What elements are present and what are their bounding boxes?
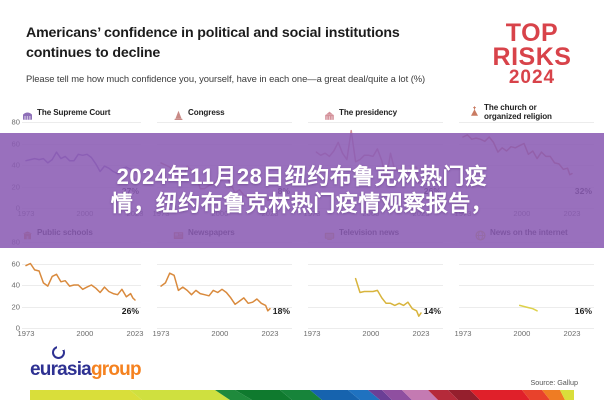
panel-plot: 14%197320002023	[308, 242, 443, 328]
church-icon	[469, 104, 480, 115]
x-tick-label: 2023	[413, 329, 430, 338]
panel-legend-label: Congress	[188, 109, 225, 118]
y-tick-label: 60	[12, 259, 20, 268]
color-stripe-svg	[30, 390, 574, 400]
x-tick-label: 2000	[513, 329, 530, 338]
eurasia-group-logo: eurasiagroup	[30, 346, 141, 379]
x-axis-ticks: 197320002023	[308, 329, 443, 340]
color-stripe	[30, 390, 574, 400]
whitehouse-icon	[324, 108, 335, 119]
x-tick-label: 1973	[455, 329, 472, 338]
series-line	[459, 242, 594, 328]
panel-legend-label: The church or organized religion	[484, 104, 552, 121]
x-tick-label: 1973	[153, 329, 170, 338]
x-axis-ticks: 197320002023	[22, 329, 141, 340]
x-axis-ticks: 197320002023	[459, 329, 594, 340]
eurasia-mark-icon	[52, 346, 65, 359]
x-tick-label: 2000	[362, 329, 379, 338]
panel-plot: 02040608026%197320002023	[22, 242, 141, 328]
logo-line-risks: RISKS	[486, 46, 578, 70]
series-line	[308, 242, 443, 328]
source-note: Source: Gallup	[530, 378, 578, 387]
y-tick-label: 20	[12, 302, 20, 311]
eurasia-word-secondary: group	[91, 359, 141, 380]
panel-legend-label: The presidency	[339, 109, 397, 118]
panel-legend: The presidency	[302, 104, 449, 122]
x-tick-label: 2023	[564, 329, 581, 338]
panel-plot: 16%197320002023	[459, 242, 594, 328]
y-tick-label: 40	[12, 281, 20, 290]
eurasia-wordmark: eurasiagroup	[30, 360, 141, 379]
page-subtitle: Please tell me how much confidence you, …	[26, 72, 446, 85]
x-tick-label: 2023	[262, 329, 279, 338]
x-axis-ticks: 197320002023	[157, 329, 292, 340]
y-tick-label: 80	[12, 118, 20, 127]
page-title: Americans’ confidence in political and s…	[26, 24, 446, 63]
end-value-label: 26%	[122, 306, 139, 316]
infographic-card: Americans’ confidence in political and s…	[0, 0, 604, 400]
overlay-line-2: 情，纽约布鲁克林热门疫情观察报告，	[14, 191, 590, 218]
x-tick-label: 2000	[76, 329, 93, 338]
panel-legend: Congress	[151, 104, 298, 122]
series-line	[157, 242, 292, 328]
x-tick-label: 1973	[304, 329, 321, 338]
logo-line-top: TOP	[486, 22, 578, 46]
top-risks-logo: TOP RISKS 2024	[486, 22, 578, 87]
capitol-icon	[173, 108, 184, 119]
panel-legend: The Supreme Court	[0, 104, 147, 122]
end-value-label: 14%	[424, 306, 441, 316]
x-tick-label: 2023	[127, 329, 144, 338]
article-title-overlay: 2024年11月28日纽约布鲁克林热门疫 情，纽约布鲁克林热门疫情观察报告，	[0, 133, 604, 248]
panel-legend: The church or organized religion	[453, 104, 600, 122]
y-axis-ticks: 020406080	[1, 242, 20, 328]
logo-line-year: 2024	[486, 69, 578, 87]
header-block: Americans’ confidence in political and s…	[26, 24, 446, 86]
overlay-line-1: 2024年11月28日纽约布鲁克林热门疫	[14, 164, 590, 191]
x-tick-label: 1973	[18, 329, 35, 338]
eurasia-word-primary: eurasia	[30, 359, 91, 380]
panel-legend-label: The Supreme Court	[37, 109, 110, 118]
end-value-label: 18%	[273, 306, 290, 316]
end-value-label: 16%	[575, 306, 592, 316]
x-tick-label: 2000	[211, 329, 228, 338]
panel-plot: 18%197320002023	[157, 242, 292, 328]
courthouse-icon	[22, 108, 33, 119]
